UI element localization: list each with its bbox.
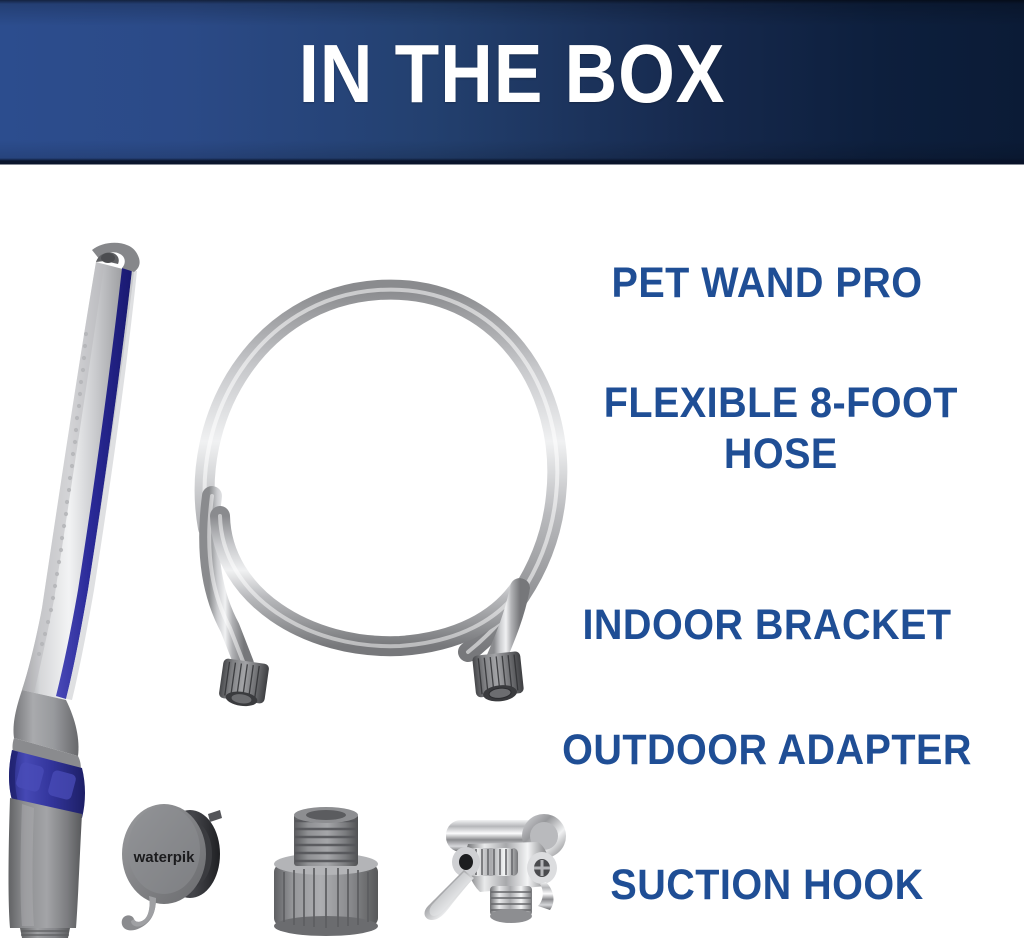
header-banner: IN THE BOX	[0, 0, 1024, 165]
feature-label-pet-wand-pro: PET WAND PRO	[531, 258, 1004, 309]
feature-label-flexible-8-foot-hose: FLEXIBLE 8-FOOT HOSE	[531, 378, 1004, 480]
feature-list: PET WAND PRO FLEXIBLE 8-FOOT HOSE INDOOR…	[510, 170, 1024, 939]
outdoor-adapter-image	[268, 802, 384, 939]
in-the-box-infographic: IN THE BOX	[0, 0, 1024, 939]
feature-label-outdoor-adapter: OUTDOOR ADAPTER	[531, 725, 1004, 776]
feature-label-indoor-bracket: INDOOR BRACKET	[531, 600, 1004, 651]
waterpik-logo-text: waterpik	[133, 849, 196, 866]
suction-hook-image: waterpik	[112, 792, 242, 939]
feature-label-suction-hook: SUCTION HOOK	[531, 860, 1004, 911]
page-title: IN THE BOX	[61, 28, 962, 120]
